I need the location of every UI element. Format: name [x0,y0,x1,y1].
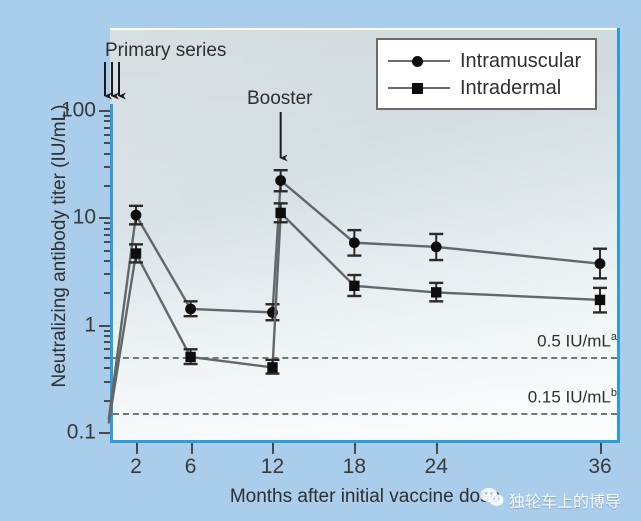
y-tick-minor [104,367,110,369]
x-tick-label: 18 [343,456,366,477]
legend-label-intramuscular: Intramuscular [460,51,581,71]
y-tick-minor [104,357,110,359]
y-tick-minor [104,241,110,243]
y-tick-minor [104,134,110,136]
x-tick-label: 2 [130,456,142,477]
threshold-footnote: b [611,387,617,399]
y-tick-minor [104,335,110,337]
y-axis-title: Neutralizing antibody titer (IU/mL) [49,66,71,426]
y-tick-minor [104,292,110,294]
y-tick-label: 0.1 [67,422,96,443]
threshold-line [113,413,617,415]
y-tick-minor [104,142,110,144]
x-tick [436,443,438,454]
right-axis-spine [617,28,620,442]
legend-label-intradermal: Intradermal [460,78,561,98]
y-tick-minor [104,127,110,129]
y-tick-minor [104,273,110,275]
x-tick [272,443,274,454]
y-tick-minor [104,341,110,343]
y-tick-minor [104,120,110,122]
legend-item-intramuscular: Intramuscular [388,47,581,74]
y-axis-spine [110,104,113,442]
y-tick-major [99,325,110,327]
legend-item-intradermal: Intradermal [388,74,581,101]
legend-marker-circle-icon [388,54,450,68]
y-tick-minor [104,400,110,402]
x-tick-label: 24 [425,456,448,477]
threshold-line [113,357,617,359]
y-tick-label: 10 [73,207,96,228]
threshold-label-text: 0.15 IU/mL [528,388,611,407]
threshold-label: 0.15 IU/mLb [528,387,617,408]
primary-series-annotation: Primary series [105,40,226,62]
x-tick [354,443,356,454]
legend-marker-square-icon [388,81,450,95]
booster-annotation: Booster [247,88,312,110]
threshold-label-text: 0.5 IU/mL [537,332,611,351]
y-tick-minor [104,228,110,230]
x-tick [136,443,138,454]
y-tick-minor [104,166,110,168]
x-tick [600,443,602,454]
y-tick-minor [104,185,110,187]
plot-top-edge [110,28,620,30]
y-tick-minor [104,330,110,332]
x-tick-label: 6 [185,456,197,477]
threshold-footnote: a [611,331,617,343]
y-tick-label: 1 [84,314,96,335]
y-tick-minor [104,234,110,236]
chart-figure: 1001010.1 2612182436 0.5 IU/mLa0.15 IU/m… [0,0,641,521]
y-tick-minor [104,260,110,262]
y-tick-minor [104,250,110,252]
y-tick-major [99,217,110,219]
wechat-icon [480,487,504,512]
y-tick-major [99,432,110,434]
y-tick-major [99,110,110,112]
threshold-label: 0.5 IU/mLa [537,331,617,352]
y-tick-minor [104,153,110,155]
x-tick-label: 36 [588,456,611,477]
x-axis-spine [110,440,620,443]
y-tick-minor [104,115,110,117]
x-tick-label: 12 [261,456,284,477]
y-tick-minor [104,222,110,224]
y-tick-minor [104,381,110,383]
x-tick [191,443,193,454]
watermark-text: 独轮车上的博导 [509,488,621,512]
chart-legend: Intramuscular Intradermal [376,38,597,110]
wechat-watermark: 独轮车上的博导 [480,487,621,512]
y-tick-minor [104,348,110,350]
